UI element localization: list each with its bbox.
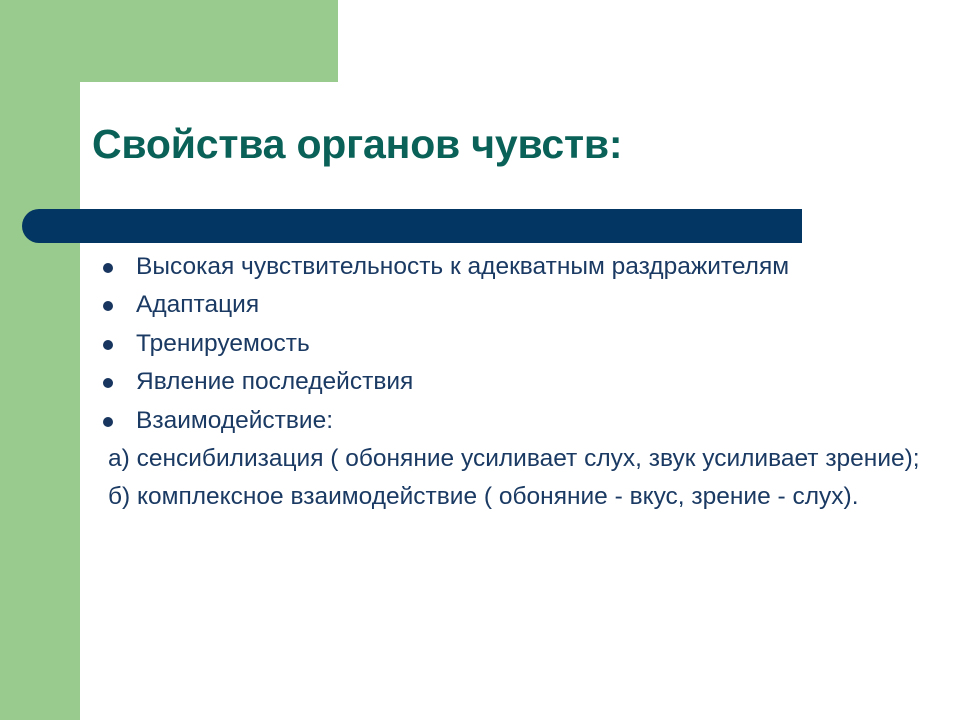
list-item: Высокая чувствительность к адекватным ра… bbox=[100, 252, 930, 281]
bullet-dot-icon bbox=[103, 301, 113, 311]
presentation-slide: Свойства органов чувств: Высокая чувстви… bbox=[0, 0, 960, 720]
slide-title: Свойства органов чувств: bbox=[92, 122, 912, 167]
slide-body-list: Высокая чувствительность к адекватным ра… bbox=[100, 252, 930, 521]
bullet-dot-icon bbox=[103, 263, 113, 273]
green-left-strip-decoration bbox=[0, 0, 80, 720]
list-item: Явление последействия bbox=[100, 367, 930, 396]
list-item-label: Адаптация bbox=[136, 290, 930, 319]
sub-list-item-label: б) комплексное взаимодействие ( обоняние… bbox=[108, 482, 930, 511]
sub-list-item: б) комплексное взаимодействие ( обоняние… bbox=[100, 482, 930, 511]
list-item: Адаптация bbox=[100, 290, 930, 319]
title-divider-bar bbox=[22, 209, 802, 243]
bullet-dot-icon bbox=[103, 378, 113, 388]
list-item-label: Взаимодействие: bbox=[136, 406, 930, 435]
sub-list-item-label: а) сенсибилизация ( обоняние усиливает с… bbox=[108, 444, 930, 473]
list-item: Тренируемость bbox=[100, 329, 930, 358]
sub-list-item: а) сенсибилизация ( обоняние усиливает с… bbox=[100, 444, 930, 473]
list-item: Взаимодействие: bbox=[100, 406, 930, 435]
list-item-label: Высокая чувствительность к адекватным ра… bbox=[136, 252, 930, 281]
list-item-label: Явление последействия bbox=[136, 367, 930, 396]
list-item-label: Тренируемость bbox=[136, 329, 930, 358]
bullet-dot-icon bbox=[103, 340, 113, 350]
bullet-dot-icon bbox=[103, 417, 113, 427]
